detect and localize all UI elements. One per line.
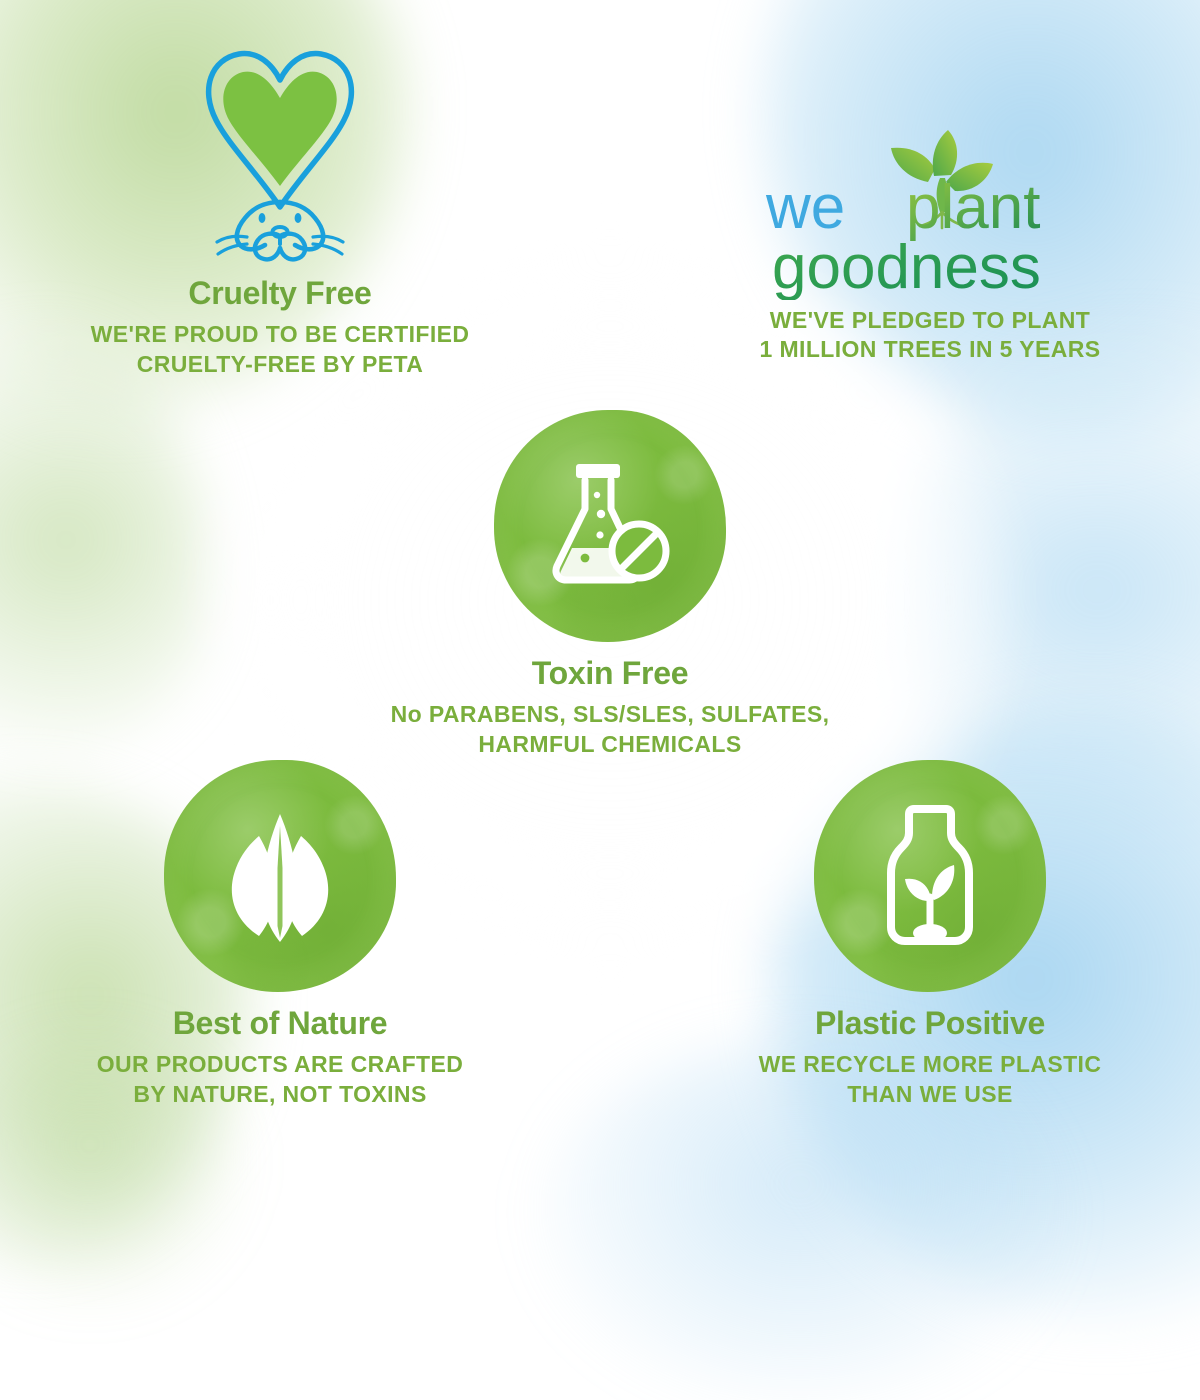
badge-plastic-positive: Plastic Positive WE RECYCLE MORE PLASTIC… (680, 760, 1180, 1109)
badge-best-of-nature: Best of Nature OUR PRODUCTS ARE CRAFTED … (20, 760, 540, 1109)
logo-word-we: we (765, 173, 845, 242)
three-leaves-icon (212, 808, 348, 944)
cruelty-free-icon-wrap (20, 40, 540, 262)
badge-desc-line: No PARABENS, SLS/SLES, SULFATES, (340, 700, 880, 729)
badge-desc-line: THAN WE USE (680, 1080, 1180, 1109)
badge-desc-line: WE RECYCLE MORE PLASTIC (680, 1050, 1180, 1079)
badge-desc-cruelty-free: WE'RE PROUD TO BE CERTIFIED CRUELTY-FREE… (20, 320, 540, 379)
badge-desc-line: CRUELTY-FREE BY PETA (20, 350, 540, 379)
plant-goodness-logo-wrap: we plant goodness (680, 120, 1180, 300)
badge-desc-plant-goodness: WE'VE PLEDGED TO PLANT 1 MILLION TREES I… (680, 306, 1180, 365)
badge-title-cruelty-free: Cruelty Free (20, 276, 540, 311)
logo-word-plant: plant (906, 173, 1040, 242)
badge-title-best-of-nature: Best of Nature (20, 1006, 540, 1041)
badge-desc-line: OUR PRODUCTS ARE CRAFTED (20, 1050, 540, 1079)
no-chemicals-flask-icon (545, 462, 675, 590)
logo-word-goodness: goodness (772, 233, 1041, 300)
badge-cruelty-free: Cruelty Free WE'RE PROUD TO BE CERTIFIED… (20, 40, 540, 379)
plastic-positive-disc (814, 760, 1046, 992)
plastic-positive-icon-wrap (680, 760, 1180, 992)
badge-title-plastic-positive: Plastic Positive (680, 1006, 1180, 1041)
badge-desc-line: BY NATURE, NOT TOXINS (20, 1080, 540, 1109)
badge-desc-toxin-free: No PARABENS, SLS/SLES, SULFATES, HARMFUL… (340, 700, 880, 759)
badge-desc-line: HARMFUL CHEMICALS (340, 730, 880, 759)
toxin-free-disc (494, 410, 726, 642)
we-plant-goodness-logo: we plant goodness (760, 120, 1100, 300)
badge-title-toxin-free: Toxin Free (340, 656, 880, 691)
badge-desc-best-of-nature: OUR PRODUCTS ARE CRAFTED BY NATURE, NOT … (20, 1050, 540, 1109)
bottle-with-sprout-icon (874, 805, 986, 947)
badge-desc-plastic-positive: WE RECYCLE MORE PLASTIC THAN WE USE (680, 1050, 1180, 1109)
best-of-nature-disc (164, 760, 396, 992)
badge-desc-line: WE'VE PLEDGED TO PLANT (680, 306, 1180, 335)
peta-cruelty-free-bunny-logo (195, 40, 365, 262)
badge-toxin-free: Toxin Free No PARABENS, SLS/SLES, SULFAT… (340, 410, 880, 759)
badge-desc-line: WE'RE PROUD TO BE CERTIFIED (20, 320, 540, 349)
badge-desc-line: 1 MILLION TREES IN 5 YEARS (680, 335, 1180, 364)
badge-plant-goodness: we plant goodness WE'VE PLEDGED TO PLANT… (680, 120, 1180, 365)
best-of-nature-icon-wrap (20, 760, 540, 992)
toxin-free-icon-wrap (340, 410, 880, 642)
